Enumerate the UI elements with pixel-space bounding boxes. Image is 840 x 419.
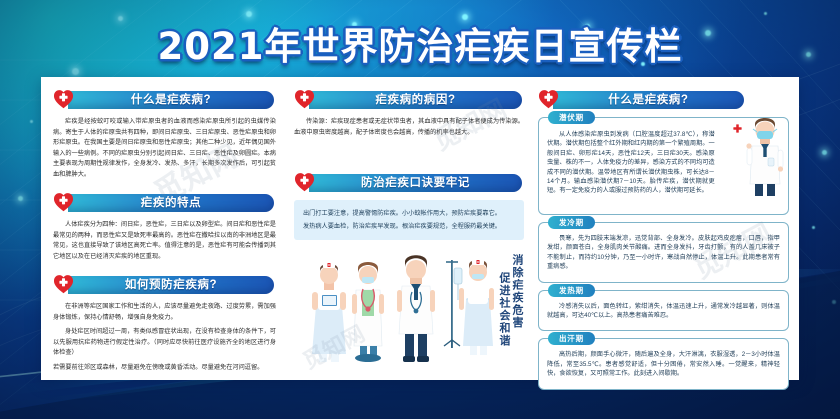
section-paragraph: 人体疟疾分为四种：间日疟，恶性疟，三日疟以及卵型疟。间日疟和恶性疟是最常见的两种…: [53, 220, 276, 262]
section-title: 什么是疟疾病?: [68, 91, 274, 109]
mnemonic-box: 出门打工要注意，提高警惕防疟疾。小小蚊帐作用大，预防疟疾要靠它。 发热病人要血检…: [294, 200, 524, 240]
section-header: 什么是疟疾病?: [538, 90, 789, 110]
section-paragraph: 在非洲等疟区国家工作和生活的人，应该尽量避免走夜路、过度劳累，需加强身体锻炼，保…: [53, 302, 276, 323]
poster-canvas: 2021年世界防治疟疾日宣传栏 什么是疟疾病? 疟疾是经按蚊叮咬或输入带疟原虫者…: [0, 0, 840, 419]
poster-title-area: 2021年世界防治疟疾日宣传栏: [0, 16, 840, 70]
middle-column: 疟疾病的病因? 传染源：疟疾现症患者或无症状带虫者，其血液中具有配子体者便成为传…: [286, 77, 532, 380]
mnemonic-line: 发热病人要血检，防治疟疾早发现。根治疟疾要规范，全程服药最关键。: [303, 220, 515, 233]
section-paragraph: 若需要前往郊区或森林，尽量避免在傍晚或黄昏活动。尽量避免在河问逗留。: [53, 363, 276, 374]
section-header: 疟疾病的病因?: [294, 90, 524, 110]
section-header: 如何预防疟疾病?: [53, 275, 276, 295]
section-malaria-features: 疟疾的特点 人体疟疾分为四种：间日疟，恶性疟，三日疟以及卵型疟。间日疟和恶性疟是…: [53, 193, 276, 262]
section-paragraph: 传染源：疟疾现症患者或无症状带虫者，其血液中具有配子体者便成为传染源。血液中原虫…: [294, 117, 524, 138]
section-malaria-cause: 疟疾病的病因? 传染源：疟疾现症患者或无症状带虫者，其血液中具有配子体者便成为传…: [294, 90, 524, 138]
section-title: 什么是疟疾病?: [553, 91, 744, 109]
section-title: 疟疾的特点: [68, 194, 274, 212]
stage-tag: 潜伏期: [548, 111, 595, 124]
content-panel: 什么是疟疾病? 疟疾是经按蚊叮咬或输入带疟原虫者的血液而感染疟原虫所引起的虫媒传…: [41, 77, 799, 380]
section-what-is-malaria: 什么是疟疾病? 疟疾是经按蚊叮咬或输入带疟原虫者的血液而感染疟原虫所引起的虫媒传…: [53, 90, 276, 180]
section-prevention: 如何预防疟疾病? 在非洲等疟区国家工作和生活的人，应该尽量避免走夜路、过度劳累，…: [53, 275, 276, 373]
male-doctor-figure: [397, 255, 435, 362]
stage-text: 冷感消失以后，面色转红，紫绀消失，体温迅速上升，通常发冷越显著，则体温就越高，可…: [547, 302, 780, 321]
section-header: 防治疟疾口诀要牢记: [294, 173, 524, 193]
stage-text: 高热后期，颜面手心微汗，随后遍及全身，大汗淋漓，衣服湿透，2－3小时体温降低，常…: [547, 350, 780, 378]
stage-card-incubation: 潜伏期 从人体感染疟原虫到发病（口腔温度超过37.8℃），称潜伏期。潜伏期包括整…: [538, 117, 789, 215]
doctor-with-mask-illustration: [734, 116, 792, 198]
section-title: 防治疟疾口诀要牢记: [309, 174, 522, 192]
section-paragraph: 身处疟区时间超过一周，有类似感冒症状出现，在没有检查身体的条件下，可以先服用抗疟…: [53, 327, 276, 359]
section-paragraph: 疟疾是经按蚊叮咬或输入带疟原虫者的血液而感染疟原虫所引起的虫媒传染病。寄生于人体…: [53, 117, 276, 180]
slogan-vertical: 消除疟疾危害 促进社会和谐: [498, 254, 522, 347]
slogan-line-2: 促进社会和谐: [498, 272, 509, 347]
stage-text: 从人体感染疟原虫到发病（口腔温度超过37.8℃），称潜伏期。潜伏期包括整个红外期…: [547, 130, 715, 196]
section-title: 疟疾病的病因?: [309, 91, 522, 109]
slogan-line-1: 消除疟疾危害: [511, 254, 522, 347]
stage-tag: 发热期: [548, 284, 595, 297]
stage-tag: 出汗期: [548, 332, 595, 345]
female-doctor-figure: [352, 262, 384, 362]
stage-card-chills: 发冷期 畏寒，先为四肢末端发凉，迅觉背部、全身发冷。皮肤起鸡皮疙瘩，口唇，指甲发…: [538, 222, 789, 283]
stage-card-fever: 发热期 冷感消失以后，面色转红，紫绀消失，体温迅速上升，通常发冷越显著，则体温就…: [538, 290, 789, 332]
poster-title: 2021年世界防治疟疾日宣传栏: [158, 16, 683, 70]
section-header: 疟疾的特点: [53, 193, 276, 213]
stage-card-sweating: 出汗期 高热后期，颜面手心微汗，随后遍及全身，大汗淋漓，衣服湿透，2－3小时体温…: [538, 338, 789, 389]
medical-team-illustration: 消除疟疾危害 促进社会和谐: [294, 248, 524, 370]
nurse-with-clipboard-figure: [312, 262, 346, 362]
section-header: 什么是疟疾病?: [53, 90, 276, 110]
mnemonic-line: 出门打工要注意，提高警惕防疟疾。小小蚊帐作用大，预防疟疾要靠它。: [303, 207, 515, 220]
nurse-with-iv-figure: [444, 259, 494, 355]
right-column: 什么是疟疾病? 潜伏期 从人体感染疟原虫到发病（口腔温度超过37.8℃），称潜伏…: [532, 77, 799, 380]
section-mnemonic: 防治疟疾口诀要牢记 出门打工要注意，提高警惕防疟疾。小小蚊帐作用大，预防疟疾要靠…: [294, 173, 524, 240]
stage-text: 畏寒，先为四肢末端发凉，迅觉背部、全身发冷。皮肤起鸡皮疙瘩，口唇，指甲发绀，颜面…: [547, 234, 780, 272]
left-column: 什么是疟疾病? 疟疾是经按蚊叮咬或输入带疟原虫者的血液而感染疟原虫所引起的虫媒传…: [41, 77, 286, 380]
stage-tag: 发冷期: [548, 216, 595, 229]
medical-team-figures: [294, 248, 526, 370]
section-title: 如何预防疟疾病?: [68, 276, 274, 294]
